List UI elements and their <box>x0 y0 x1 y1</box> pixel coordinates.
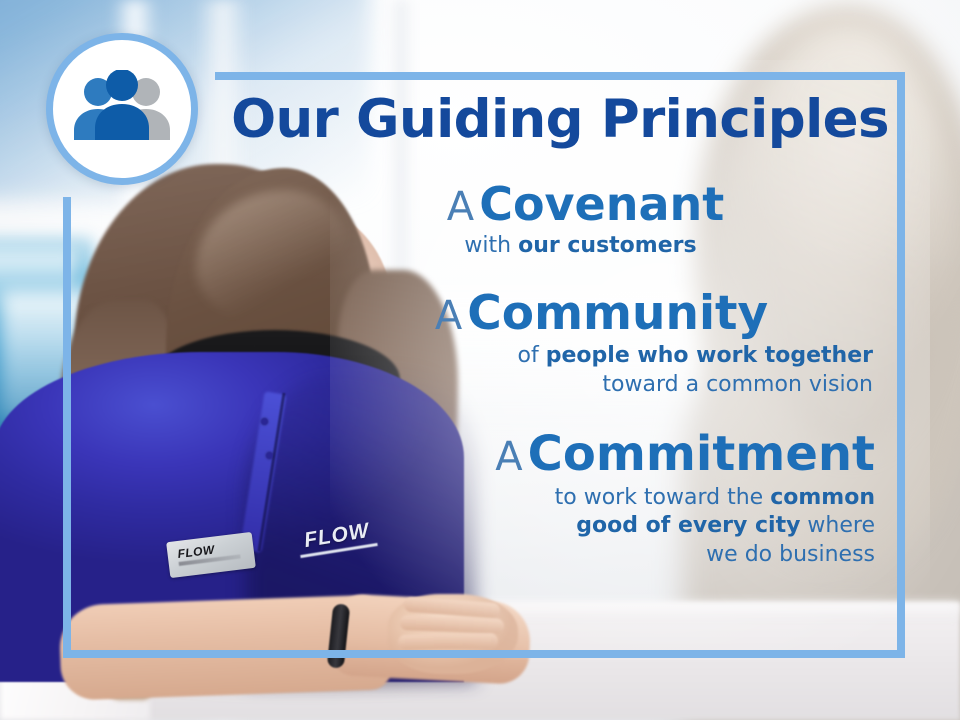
people-icon-medallion <box>46 33 198 185</box>
principle-subtext: to work toward the commongood of every c… <box>330 484 875 570</box>
principle-heading: A Commitment <box>330 429 875 479</box>
principle-article: A <box>447 184 474 230</box>
principle-community: A Community of people who work togethert… <box>330 289 875 400</box>
principle-heading: A Community <box>330 289 875 338</box>
page-title: Our Guiding Principles <box>215 93 905 147</box>
principle-covenant: A Covenant with our customers <box>330 180 875 261</box>
frame-right-border <box>897 72 905 658</box>
guiding-principles-graphic: FLOW FLOW Our Guidi <box>0 0 960 720</box>
principle-commitment: A Commitment to work toward the commongo… <box>330 429 875 569</box>
principle-article: A <box>495 434 522 480</box>
frame-left-border <box>63 197 71 658</box>
principle-subtext: with our customers <box>330 232 867 261</box>
principle-word: Community <box>467 286 768 341</box>
principles-list: A Covenant with our customers A Communit… <box>330 180 875 574</box>
principle-heading: A Covenant <box>330 180 867 228</box>
principle-word: Commitment <box>528 426 875 482</box>
frame-bottom-border <box>63 650 905 658</box>
principle-word: Covenant <box>479 177 724 231</box>
principle-subtext: of people who work togethertoward a comm… <box>330 342 875 399</box>
frame-top-border <box>215 72 905 80</box>
polo-button <box>261 418 268 425</box>
people-group-icon <box>70 70 174 148</box>
finger <box>398 633 498 650</box>
polo-button <box>266 452 273 459</box>
principle-article: A <box>435 293 462 339</box>
